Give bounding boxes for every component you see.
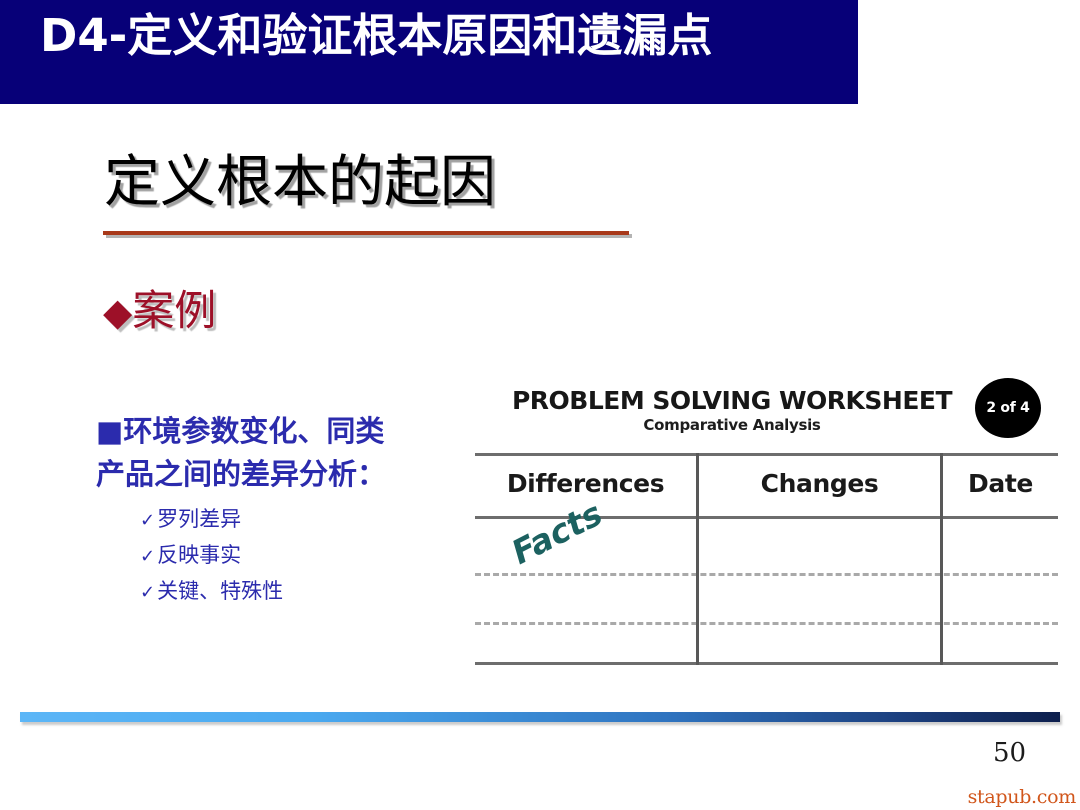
- check-icon: ✓: [140, 510, 155, 531]
- table-bottom-border: [475, 662, 1058, 665]
- page-title: 定义根本的起因: [104, 148, 496, 218]
- header-title: D4-定义和验证根本原因和遗漏点: [40, 8, 712, 64]
- facts-annotation: Facts: [505, 494, 608, 572]
- list-item: ✓罗列差异: [140, 502, 468, 538]
- table-row-divider: [475, 573, 1058, 576]
- check-icon: ✓: [140, 582, 155, 603]
- check-icon: ✓: [140, 546, 155, 567]
- worksheet-subtitle: Comparative Analysis: [492, 416, 972, 434]
- list-item-label: 关键、特殊性: [157, 579, 283, 603]
- page-number: 50: [993, 738, 1026, 768]
- list-item: ✓关键、特殊性: [140, 574, 468, 610]
- worksheet-page-badge: 2 of 4: [975, 378, 1041, 438]
- worksheet-table: Differences Changes Date Facts: [475, 453, 1058, 665]
- title-underline-rule: [103, 231, 629, 235]
- table-row-divider: [475, 622, 1058, 625]
- slide-canvas: D4-定义和验证根本原因和遗漏点 定义根本的起因 ◆案例 ■环境参数变化、同类 …: [0, 0, 1080, 810]
- footer-gradient-bar: [20, 712, 1060, 722]
- case-bullet-label: 案例: [132, 286, 216, 335]
- site-watermark: stapub.com: [968, 786, 1076, 808]
- content-left-block: ■环境参数变化、同类 产品之间的差异分析： ✓罗列差异 ✓反映事实 ✓关键、特殊…: [96, 410, 468, 610]
- worksheet-title: PROBLEM SOLVING WORKSHEET: [492, 386, 972, 415]
- level2-bullet-list: ✓罗列差异 ✓反映事实 ✓关键、特殊性: [140, 502, 468, 610]
- list-item-label: 罗列差异: [157, 507, 241, 531]
- level1-bullet-line2: 产品之间的差异分析：: [96, 453, 468, 496]
- problem-solving-worksheet-image: PROBLEM SOLVING WORKSHEET Comparative An…: [470, 372, 1062, 672]
- level1-bullet-text-1: ■环境参数变化、同类: [96, 414, 384, 448]
- table-column-header-changes: Changes: [699, 469, 940, 498]
- list-item-label: 反映事实: [157, 543, 241, 567]
- case-bullet: ◆案例: [103, 286, 216, 337]
- level1-bullet-line1: ■环境参数变化、同类: [96, 410, 468, 453]
- header-banner: D4-定义和验证根本原因和遗漏点: [0, 0, 858, 104]
- table-column-header-date: Date: [943, 469, 1058, 498]
- table-column-header-differences: Differences: [475, 469, 696, 498]
- diamond-bullet-icon: ◆: [103, 290, 132, 334]
- list-item: ✓反映事实: [140, 538, 468, 574]
- level1-bullet-text-2: 产品之间的差异分析：: [96, 457, 386, 491]
- table-top-border: [475, 453, 1058, 456]
